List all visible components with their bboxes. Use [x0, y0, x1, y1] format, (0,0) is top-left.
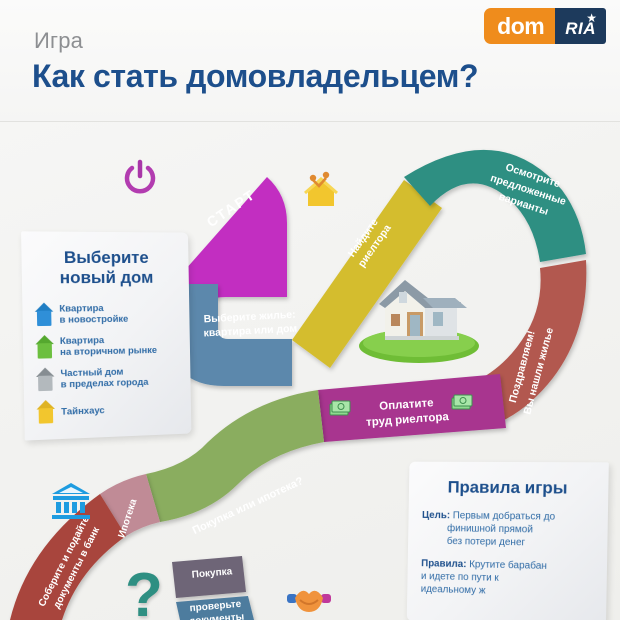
- choose-home-panel: Выберите новый дом Квартира в новостройк…: [21, 231, 191, 440]
- home-type-list: Квартира в новостройке Квартира на втори…: [35, 301, 191, 425]
- goal-label: Цель:: [422, 510, 450, 521]
- goal-text-3: без потери денег: [422, 535, 594, 551]
- house-icon-green: [35, 335, 54, 360]
- banknote-icon-left: [328, 400, 352, 420]
- header-kicker: Игра: [34, 28, 83, 54]
- list-item-label: Частный дом в пределах города: [60, 366, 148, 390]
- rules-howto: Правила: Крутите барабан и идете по пути…: [421, 557, 593, 600]
- panel-right-title: Правила игры: [409, 477, 609, 499]
- realtor-house-icon: [300, 168, 342, 210]
- banknote-icon-right: [450, 394, 474, 414]
- house-icon-gray: [36, 367, 55, 392]
- list-item-label: Квартира в новостройке: [59, 303, 128, 326]
- dom-ria-logo[interactable]: dom ★ RIA: [484, 8, 606, 44]
- power-button-icon[interactable]: [120, 158, 160, 198]
- segment-check[interactable]: [176, 596, 254, 620]
- question-mark-icon: ?: [125, 560, 163, 620]
- goal-text: Первым добраться до: [453, 510, 556, 522]
- house-icon-yellow: [36, 400, 55, 425]
- header-bar: Игра Как стать домовладельцем? dom ★ RIA: [0, 0, 620, 122]
- house-photo: [355, 272, 483, 364]
- list-item-apartment-resale[interactable]: Квартира на вторичном рынке: [35, 333, 190, 360]
- list-item-label: Квартира на вторичном рынке: [60, 334, 157, 358]
- bank-icon: [50, 481, 92, 521]
- rules-goal: Цель: Первым добраться до финишной прямо…: [422, 509, 594, 551]
- segment-purchase[interactable]: [172, 556, 246, 598]
- rules-text: Крутите барабан: [469, 559, 547, 572]
- logo-ria-block: ★ RIA: [555, 8, 606, 44]
- page-title: Как стать домовладельцем?: [32, 58, 478, 95]
- list-item-label: Тайнхаус: [61, 405, 105, 418]
- infographic-canvas: Игра Как стать домовладельцем? dom ★ RIA: [0, 0, 620, 620]
- handshake-icon: [286, 578, 332, 620]
- rules-label: Правила:: [421, 558, 466, 570]
- game-rules-panel: Правила игры Цель: Первым добраться до ф…: [407, 462, 609, 620]
- list-item-apartment-new[interactable]: Квартира в новостройке: [35, 301, 190, 327]
- list-item-private-house[interactable]: Частный дом в пределах города: [36, 364, 191, 392]
- logo-dom-text: dom: [484, 8, 555, 44]
- star-icon: ★: [586, 11, 597, 25]
- panel-left-title: Выберите новый дом: [21, 248, 189, 289]
- house-icon-blue: [35, 303, 54, 328]
- list-item-townhouse[interactable]: Тайнхаус: [36, 395, 191, 425]
